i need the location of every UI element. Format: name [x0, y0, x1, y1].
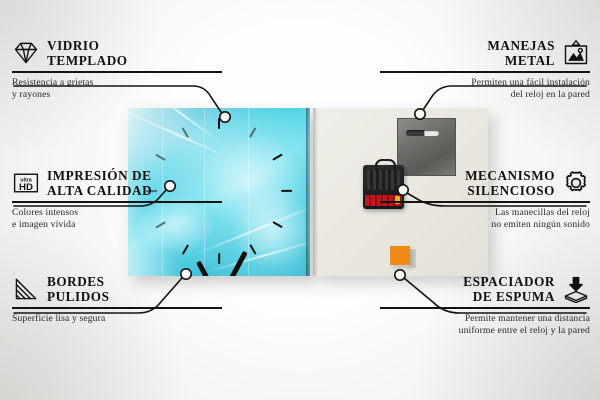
gear-icon	[562, 169, 590, 197]
feature-title: VIDRIOTEMPLADO	[47, 38, 128, 68]
infographic-canvas: VIDRIOTEMPLADO Resistencia a grietasy ra…	[0, 0, 600, 400]
feature-manejas-metal: MANEJASMETAL Permiten una fácil instalac…	[380, 38, 590, 101]
feature-rule	[380, 307, 590, 309]
feature-subtitle: Permite mantener una distanciauniforme e…	[380, 313, 590, 338]
foam-spacer-arrow-icon	[562, 275, 590, 303]
feature-title: BORDESPULIDOS	[47, 274, 109, 304]
feature-mecanismo-silencioso: MECANISMOSILENCIOSO Las manecillas del r…	[380, 168, 590, 231]
feature-subtitle: Permiten una fácil instalacióndel reloj …	[380, 77, 590, 102]
feature-title: IMPRESIÓN DEALTA CALIDAD	[47, 168, 152, 198]
polished-edges-icon	[12, 275, 40, 303]
feature-subtitle: Superficie lisa y segura	[12, 313, 222, 325]
feature-rule	[380, 201, 590, 203]
feature-subtitle: Resistencia a grietasy rayones	[12, 77, 222, 102]
feature-vidrio-templado: VIDRIOTEMPLADO Resistencia a grietasy ra…	[12, 38, 222, 101]
feature-subtitle: Colores intensose imagen vívida	[12, 207, 222, 232]
feature-espaciador-de-espuma: ESPACIADORDE ESPUMA Permite mantener una…	[380, 274, 590, 337]
feature-rule	[12, 307, 222, 309]
feature-bordes-pulidos: BORDESPULIDOS Superficie lisa y segura	[12, 274, 222, 325]
feature-impresion-alta-calidad: ultra HD IMPRESIÓN DEALTA CALIDAD Colore…	[12, 168, 222, 231]
feature-rule	[380, 71, 590, 73]
feature-rule	[12, 71, 222, 73]
feature-title: MANEJASMETAL	[487, 38, 555, 68]
picture-frame-hanger-icon	[562, 39, 590, 67]
feature-rule	[12, 201, 222, 203]
feature-subtitle: Las manecillas del relojno emiten ningún…	[380, 207, 590, 232]
ultra-hd-icon: ultra HD	[12, 169, 40, 197]
svg-text:HD: HD	[19, 182, 33, 193]
feature-title: ESPACIADORDE ESPUMA	[463, 274, 555, 304]
feature-title: MECANISMOSILENCIOSO	[465, 168, 555, 198]
diamond-icon	[12, 39, 40, 67]
